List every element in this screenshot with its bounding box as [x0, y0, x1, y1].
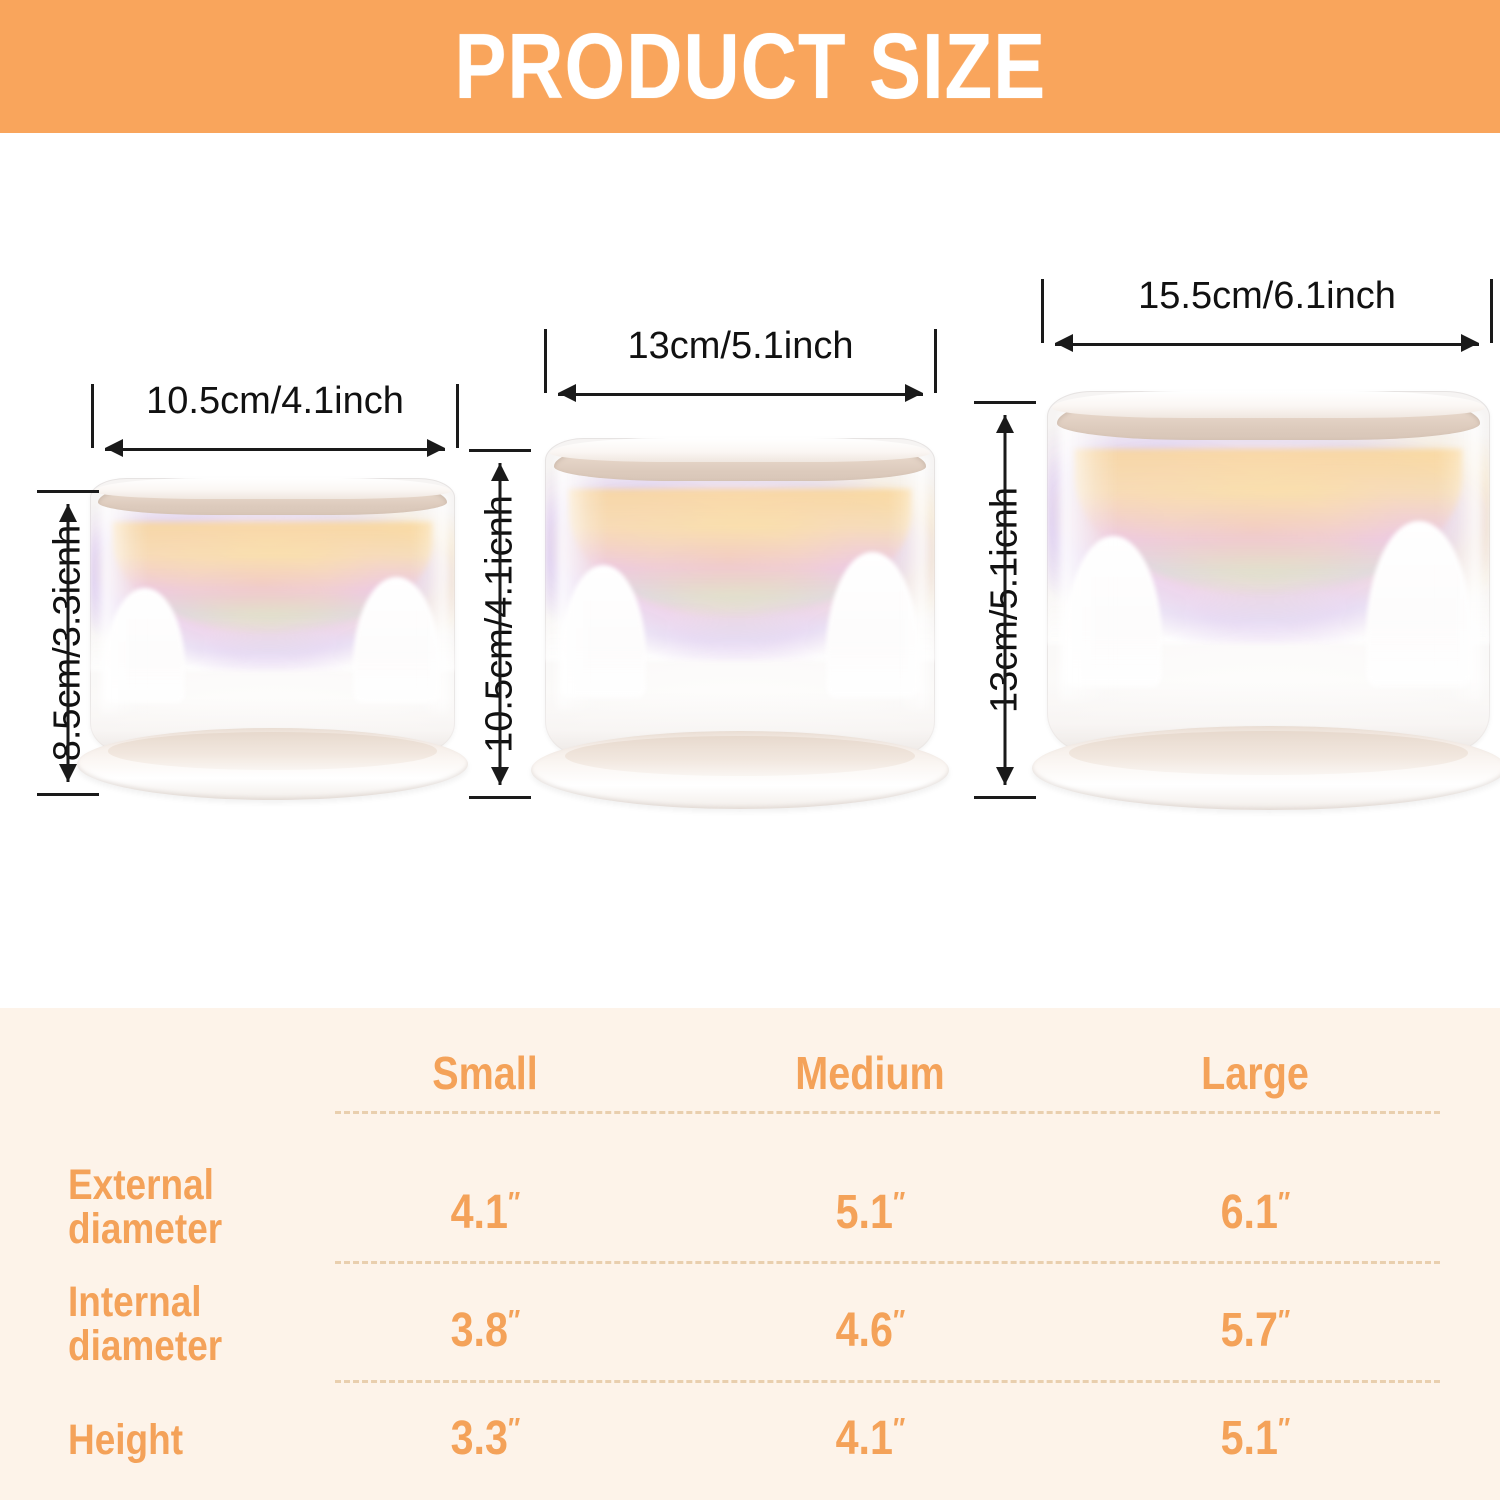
arrow-bottom — [491, 767, 509, 785]
tick-top — [469, 449, 531, 452]
unit-symbol: ″ — [1278, 1305, 1289, 1338]
pot-rim-lip — [550, 438, 931, 462]
divider-row-2 — [335, 1380, 1440, 1383]
arrow-top — [996, 415, 1014, 433]
saucer-well — [565, 736, 916, 777]
arrow-bottom — [59, 764, 77, 782]
unit-symbol: ″ — [893, 1305, 904, 1338]
tick-right — [1490, 279, 1493, 343]
arrow-left — [105, 439, 123, 457]
row-label-external-diameter: External diameter — [68, 1163, 326, 1252]
value-height-small: 3.3″ — [373, 1414, 597, 1463]
header-bar: PRODUCT SIZE — [0, 0, 1500, 133]
value-number: 5.1 — [836, 1186, 893, 1239]
saucer-large — [1032, 726, 1500, 810]
pot-rim-lip — [94, 478, 450, 499]
dimension-height-small: 8.5cm/3.3icnh — [48, 504, 88, 782]
value-number: 4.1 — [836, 1412, 893, 1465]
tick-right — [456, 384, 459, 448]
spec-table: Small Medium Large External diameter 4.1… — [0, 1008, 1500, 1500]
dimension-height-medium: 10.5cm/4.1icnh — [480, 463, 520, 785]
value-number: 5.7 — [1221, 1304, 1278, 1357]
pot-rim-lip — [1052, 391, 1484, 418]
unit-symbol: ″ — [1278, 1187, 1289, 1220]
gloss-left — [1060, 413, 1118, 703]
divider-header — [335, 1111, 1440, 1114]
arrow-left — [558, 384, 576, 402]
dimension-line — [67, 504, 70, 782]
arrow-left — [1055, 334, 1073, 352]
dimension-width-medium: 13cm/5.1inch — [558, 373, 923, 413]
column-header-small: Small — [373, 1050, 597, 1097]
page-title: PRODUCT SIZE — [454, 20, 1046, 113]
value-external-small: 4.1″ — [373, 1188, 597, 1237]
dimension-height-large: 13cm/5.1icnh — [985, 415, 1025, 785]
row-label-internal-diameter: Internal diameter — [68, 1280, 326, 1369]
gloss-right — [1437, 413, 1481, 703]
arrow-right — [427, 439, 445, 457]
column-header-medium: Medium — [758, 1050, 982, 1097]
unit-symbol: ″ — [893, 1413, 904, 1446]
value-external-large: 6.1″ — [1143, 1188, 1367, 1237]
unit-symbol: ″ — [893, 1187, 904, 1220]
tick-bottom — [37, 793, 99, 796]
arrow-top — [491, 463, 509, 481]
dimension-width-small: 10.5cm/4.1inch — [105, 428, 445, 468]
dimension-width-small-label: 10.5cm/4.1inch — [105, 380, 445, 423]
value-internal-large: 5.7″ — [1143, 1306, 1367, 1355]
tick-left — [91, 384, 94, 448]
divider-row-1 — [335, 1261, 1440, 1264]
dimension-width-large-label: 15.5cm/6.1inch — [1055, 275, 1479, 318]
tick-top — [37, 490, 99, 493]
value-number: 3.8 — [451, 1304, 508, 1357]
dimension-line — [499, 463, 502, 785]
pot-body-small — [90, 478, 455, 753]
dimension-width-medium-label: 13cm/5.1inch — [558, 325, 923, 368]
unit-symbol: ″ — [508, 1413, 519, 1446]
tick-bottom — [469, 796, 531, 799]
dimension-line — [1055, 343, 1479, 346]
row-label-height: Height — [68, 1418, 326, 1462]
product-image-medium — [545, 438, 935, 808]
tick-left — [1041, 279, 1044, 343]
product-photo-stage: 10.5cm/4.1inch 8.5cm/3.3icnh 13cm/5.1inc… — [0, 133, 1500, 1008]
tick-left — [544, 329, 547, 393]
dimension-width-large: 15.5cm/6.1inch — [1055, 323, 1479, 363]
value-number: 6.1 — [1221, 1186, 1278, 1239]
value-external-medium: 5.1″ — [758, 1188, 982, 1237]
arrow-right — [1461, 334, 1479, 352]
product-image-large — [1047, 391, 1490, 809]
unit-symbol: ″ — [508, 1305, 519, 1338]
unit-symbol: ″ — [1278, 1413, 1289, 1446]
value-height-large: 5.1″ — [1143, 1414, 1367, 1463]
unit-symbol: ″ — [508, 1187, 519, 1220]
value-number: 4.1 — [451, 1186, 508, 1239]
value-internal-small: 3.8″ — [373, 1306, 597, 1355]
pot-body-large — [1047, 391, 1490, 753]
saucer-medium — [531, 731, 948, 809]
saucer-well — [1069, 731, 1467, 775]
arrow-top — [59, 504, 77, 522]
value-number: 4.6 — [836, 1304, 893, 1357]
saucer-small — [77, 728, 468, 800]
value-number: 3.3 — [451, 1412, 508, 1465]
tick-bottom — [974, 796, 1036, 799]
tick-right — [934, 329, 937, 393]
gloss-left — [101, 495, 148, 715]
pot-body-medium — [545, 438, 935, 756]
dimension-line — [105, 448, 445, 451]
column-header-large: Large — [1143, 1050, 1367, 1097]
arrow-right — [905, 384, 923, 402]
dimension-line — [558, 393, 923, 396]
value-internal-medium: 4.6″ — [758, 1306, 982, 1355]
gloss-left — [557, 457, 608, 711]
product-image-small — [90, 478, 455, 808]
dimension-line — [1004, 415, 1007, 785]
value-number: 5.1 — [1221, 1412, 1278, 1465]
value-height-medium: 4.1″ — [758, 1414, 982, 1463]
gloss-right — [888, 457, 927, 711]
saucer-well — [108, 732, 436, 769]
tick-top — [974, 401, 1036, 404]
gloss-right — [411, 495, 448, 715]
arrow-bottom — [996, 767, 1014, 785]
